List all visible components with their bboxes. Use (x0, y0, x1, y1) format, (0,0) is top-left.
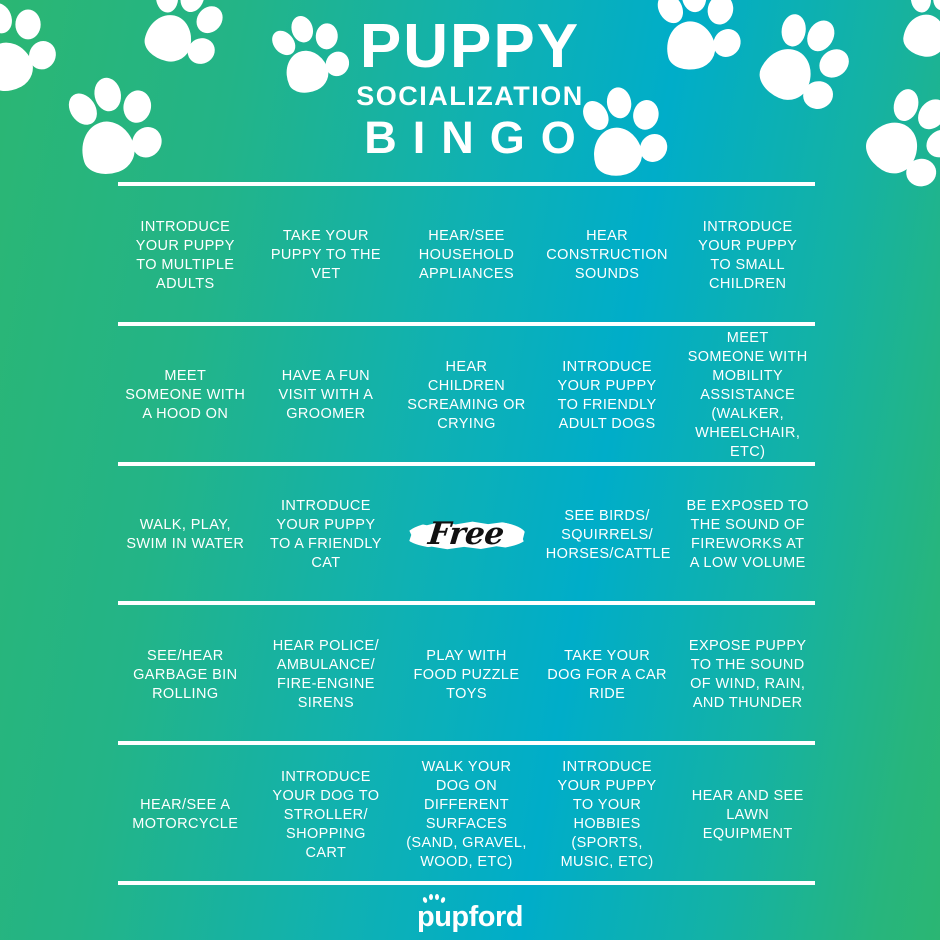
bingo-cell-label: MEET SOMEONE WITH A HOOD ON (124, 367, 247, 424)
bingo-cell-label: INTRODUCE YOUR PUPPY TO YOUR HOBBIES (SP… (546, 758, 669, 872)
bingo-cell-label: PLAY WITH FOOD PUZZLE TOYS (405, 647, 528, 704)
bingo-cell-label: INTRODUCE YOUR DOG TO STROLLER/ SHOPPING… (265, 768, 388, 863)
bingo-cell-label: HEAR/SEE HOUSEHOLD APPLIANCES (405, 227, 528, 284)
bingo-cell[interactable]: HEAR CONSTRUCTION SOUNDS (540, 186, 675, 326)
bingo-grid: INTRODUCE YOUR PUPPY TO MULTIPLE ADULTS … (118, 186, 815, 885)
bingo-cell-label: INTRODUCE YOUR PUPPY TO SMALL CHILDREN (686, 218, 809, 294)
bingo-cell-label: BE EXPOSED TO THE SOUND OF FIREWORKS AT … (686, 497, 809, 573)
pupford-logo: pupford (417, 902, 523, 932)
bingo-cell[interactable]: INTRODUCE YOUR PUPPY TO SMALL CHILDREN (680, 186, 815, 326)
bingo-cell[interactable]: PLAY WITH FOOD PUZZLE TOYS (399, 605, 534, 745)
bingo-cell[interactable]: HEAR/SEE A MOTORCYCLE (118, 745, 253, 885)
page-title: PUPPY (0, 14, 940, 80)
bingo-cell[interactable]: HAVE A FUN VISIT WITH A GROOMER (259, 326, 394, 466)
bingo-cell[interactable]: INTRODUCE YOUR PUPPY TO FRIENDLY ADULT D… (540, 326, 675, 466)
bingo-cell-label: INTRODUCE YOUR PUPPY TO FRIENDLY ADULT D… (546, 358, 669, 434)
bingo-cell[interactable]: MEET SOMEONE WITH MOBILITY ASSISTANCE (W… (680, 326, 815, 466)
free-space-label: Free (404, 512, 529, 556)
bingo-cell-label: HEAR/SEE A MOTORCYCLE (124, 796, 247, 834)
bingo-cell[interactable]: HEAR POLICE/ AMBULANCE/ FIRE-ENGINE SIRE… (259, 605, 394, 745)
bingo-cell-label: EXPOSE PUPPY TO THE SOUND OF WIND, RAIN,… (686, 637, 809, 713)
bingo-cell-label: HEAR POLICE/ AMBULANCE/ FIRE-ENGINE SIRE… (265, 637, 388, 713)
title-block: PUPPY SOCIALIZATION BINGO (0, 14, 940, 164)
bingo-cell[interactable]: HEAR AND SEE LAWN EQUIPMENT (680, 745, 815, 885)
bingo-cell-label: INTRODUCE YOUR PUPPY TO MULTIPLE ADULTS (124, 218, 247, 294)
bingo-cell-label: INTRODUCE YOUR PUPPY TO A FRIENDLY CAT (265, 497, 388, 573)
bingo-cell-label: TAKE YOUR PUPPY TO THE VET (265, 227, 388, 284)
bingo-cell[interactable]: MEET SOMEONE WITH A HOOD ON (118, 326, 253, 466)
bingo-cell-label: TAKE YOUR DOG FOR A CAR RIDE (546, 647, 669, 704)
paw-print-icon (423, 893, 445, 906)
bingo-cell[interactable]: INTRODUCE YOUR DOG TO STROLLER/ SHOPPING… (259, 745, 394, 885)
bingo-cell[interactable]: TAKE YOUR PUPPY TO THE VET (259, 186, 394, 326)
bingo-cell-free-space[interactable]: Free (399, 466, 534, 606)
bingo-cell[interactable]: SEE BIRDS/ SQUIRRELS/ HORSES/CATTLE (540, 466, 675, 606)
bingo-cell[interactable]: INTRODUCE YOUR PUPPY TO MULTIPLE ADULTS (118, 186, 253, 326)
page-subtitle: SOCIALIZATION (0, 80, 940, 112)
bingo-grid-wrapper: INTRODUCE YOUR PUPPY TO MULTIPLE ADULTS … (118, 182, 815, 889)
bingo-cell[interactable]: INTRODUCE YOUR PUPPY TO A FRIENDLY CAT (259, 466, 394, 606)
bingo-cell[interactable]: WALK YOUR DOG ON DIFFERENT SURFACES (SAN… (399, 745, 534, 885)
bingo-cell-label: HEAR AND SEE LAWN EQUIPMENT (686, 787, 809, 844)
bingo-cell[interactable]: EXPOSE PUPPY TO THE SOUND OF WIND, RAIN,… (680, 605, 815, 745)
bingo-cell[interactable]: TAKE YOUR DOG FOR A CAR RIDE (540, 605, 675, 745)
poster-header: PUPPY SOCIALIZATION BINGO (0, 0, 940, 182)
bingo-cell-label: WALK, PLAY, SWIM IN WATER (124, 516, 247, 554)
bingo-cell-label: SEE BIRDS/ SQUIRRELS/ HORSES/CATTLE (546, 507, 669, 564)
page-title-bingo: BINGO (0, 112, 940, 164)
bingo-cell-label: SEE/HEAR GARBAGE BIN ROLLING (124, 647, 247, 704)
bingo-cell[interactable]: WALK, PLAY, SWIM IN WATER (118, 466, 253, 606)
bingo-cell[interactable]: BE EXPOSED TO THE SOUND OF FIREWORKS AT … (680, 466, 815, 606)
bingo-cell-label: WALK YOUR DOG ON DIFFERENT SURFACES (SAN… (405, 758, 528, 872)
poster-footer: pupford (0, 893, 940, 940)
bingo-cell-label: HAVE A FUN VISIT WITH A GROOMER (265, 367, 388, 424)
bingo-cell-label: HEAR CONSTRUCTION SOUNDS (546, 227, 669, 284)
bingo-cell-label: HEAR CHILDREN SCREAMING OR CRYING (405, 358, 528, 434)
bingo-cell[interactable]: SEE/HEAR GARBAGE BIN ROLLING (118, 605, 253, 745)
bingo-cell[interactable]: HEAR CHILDREN SCREAMING OR CRYING (399, 326, 534, 466)
bingo-cell[interactable]: INTRODUCE YOUR PUPPY TO YOUR HOBBIES (SP… (540, 745, 675, 885)
puppy-socialization-bingo-poster: PUPPY SOCIALIZATION BINGO INTRODUCE YOUR… (0, 0, 940, 940)
bingo-cell-label: MEET SOMEONE WITH MOBILITY ASSISTANCE (W… (686, 329, 809, 462)
brush-stroke-icon: Free (406, 514, 526, 556)
bingo-cell[interactable]: HEAR/SEE HOUSEHOLD APPLIANCES (399, 186, 534, 326)
